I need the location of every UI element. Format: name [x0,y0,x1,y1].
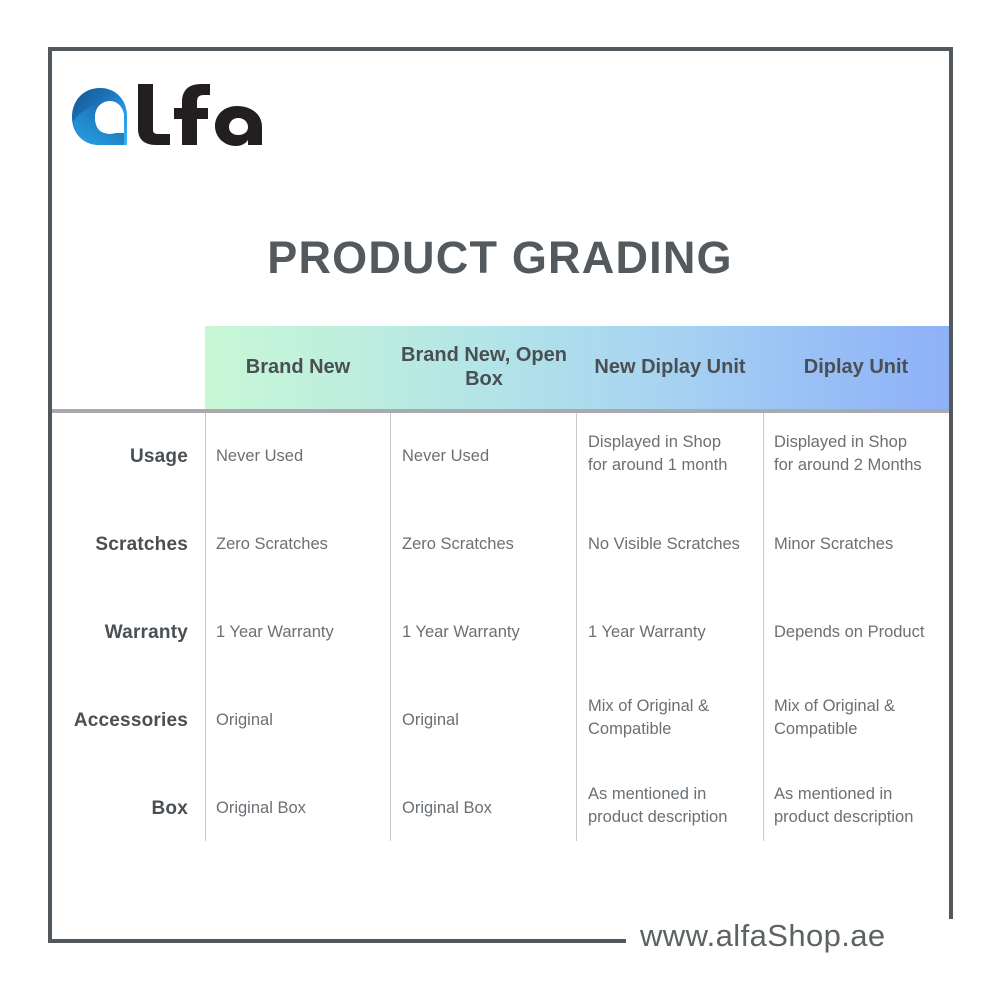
cell-box-brand-new: Original Box [205,765,391,853]
cell-usage-display-unit: Displayed in Shop for around 2 Months [763,413,949,501]
cell-accessories-open-box: Original [391,677,577,765]
grading-table-body: Usage Never Used Never Used Displayed in… [52,413,949,841]
logo-a-counter [95,102,124,133]
cell-warranty-brand-new: 1 Year Warranty [205,589,391,677]
row-label-box: Box [52,765,205,853]
cell-warranty-open-box: 1 Year Warranty [391,589,577,677]
cell-scratches-new-display-unit: No Visible Scratches [577,501,763,589]
table-row: Accessories Original Original Mix of Ori… [52,677,949,765]
column-header-brand-new-open-box: Brand New, Open Box [391,326,577,409]
cell-usage-brand-new: Never Used [205,413,391,501]
cell-usage-open-box: Never Used [391,413,577,501]
cell-accessories-new-display-unit: Mix of Original & Compatible [577,677,763,765]
cell-warranty-new-display-unit: 1 Year Warranty [577,589,763,677]
cell-accessories-display-unit: Mix of Original & Compatible [763,677,949,765]
row-label-scratches: Scratches [52,501,205,589]
cell-warranty-display-unit: Depends on Product [763,589,949,677]
cell-box-new-display-unit: As mentioned in product description [577,765,763,853]
table-row: Scratches Zero Scratches Zero Scratches … [52,501,949,589]
table-row: Usage Never Used Never Used Displayed in… [52,413,949,501]
logo-letter-a [215,106,262,146]
frame-border-bottom [48,939,626,943]
cell-box-open-box: Original Box [391,765,577,853]
cell-scratches-open-box: Zero Scratches [391,501,577,589]
alfa-logo-icon [70,82,270,152]
row-label-accessories: Accessories [52,677,205,765]
cell-usage-new-display-unit: Displayed in Shop for around 1 month [577,413,763,501]
logo-letter-l [138,84,170,145]
cell-scratches-display-unit: Minor Scratches [763,501,949,589]
cell-scratches-brand-new: Zero Scratches [205,501,391,589]
cell-accessories-brand-new: Original [205,677,391,765]
product-grading-infographic: PRODUCT GRADING Brand New Brand New, Ope… [0,0,1000,1000]
logo-letter-f [174,84,210,145]
table-header-band: Brand New Brand New, Open Box New Diplay… [205,326,949,409]
column-header-display-unit: Diplay Unit [763,326,949,409]
table-row: Box Original Box Original Box As mention… [52,765,949,853]
alfa-logo [70,82,270,152]
row-label-warranty: Warranty [52,589,205,677]
column-header-new-display-unit: New Diplay Unit [577,326,763,409]
row-label-usage: Usage [52,413,205,501]
page-title: PRODUCT GRADING [0,232,1000,284]
table-row: Warranty 1 Year Warranty 1 Year Warranty… [52,589,949,677]
website-url: www.alfaShop.ae [640,918,886,954]
frame-border-right [949,47,953,919]
frame-border-top [48,47,953,51]
cell-box-display-unit: As mentioned in product description [763,765,949,853]
column-header-brand-new: Brand New [205,326,391,409]
